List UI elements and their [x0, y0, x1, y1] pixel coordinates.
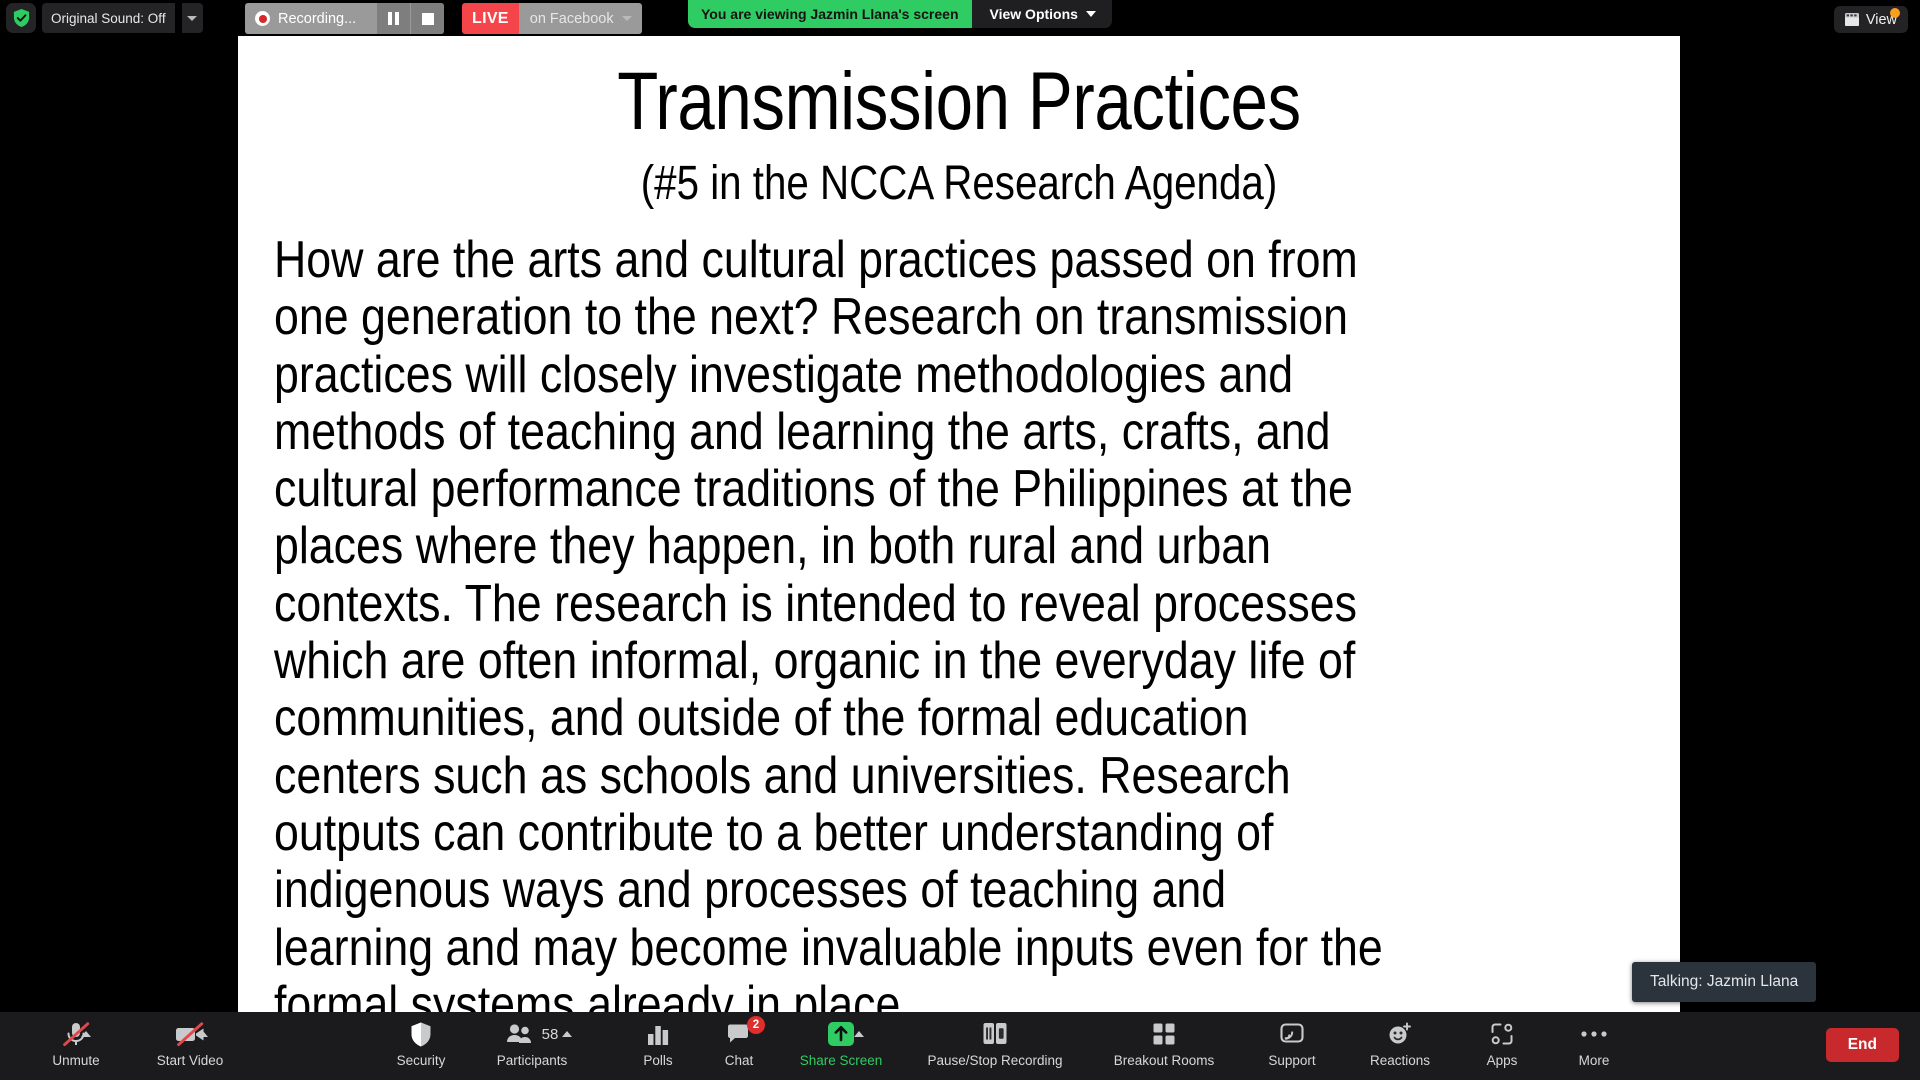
toolbar-button-support[interactable]: Support: [1240, 1012, 1344, 1080]
share-screen-icon: [824, 1021, 858, 1047]
shared-screen-content: Transmission Practices (#5 in the NCCA R…: [238, 36, 1680, 1012]
breakout-rooms-icon: [1152, 1022, 1176, 1046]
apps-icon: [1490, 1022, 1514, 1046]
bar-chart-icon: [646, 1022, 670, 1046]
view-layout-button[interactable]: View: [1834, 6, 1908, 33]
toolbar-label-apps: Apps: [1487, 1053, 1518, 1068]
chevron-down-icon: [622, 16, 632, 21]
viewing-message: You are viewing Jazmin Llana's screen: [688, 0, 972, 28]
toolbar-button-video[interactable]: Start Video: [132, 1012, 248, 1080]
people-icon: [506, 1023, 536, 1045]
toolbar-label-recording: Pause/Stop Recording: [927, 1053, 1062, 1068]
toolbar-button-audio[interactable]: Unmute: [20, 1012, 132, 1080]
grid-view-icon: [1845, 13, 1859, 26]
original-sound-dropdown[interactable]: [182, 3, 203, 33]
pause-icon: [388, 12, 399, 25]
toolbar-label-polls: Polls: [643, 1053, 672, 1068]
record-dot-icon: [245, 11, 278, 26]
toolbar-label-participants: Participants: [497, 1053, 568, 1068]
toolbar-label-audio: Unmute: [52, 1053, 99, 1068]
audio-options-chevron-icon[interactable]: [81, 1031, 91, 1037]
toolbar-label-security: Security: [397, 1053, 446, 1068]
toolbar-button-apps[interactable]: Apps: [1456, 1012, 1548, 1080]
video-options-chevron-icon[interactable]: [198, 1031, 208, 1037]
participants-count: 58: [542, 1026, 559, 1043]
toolbar-label-support: Support: [1268, 1053, 1315, 1068]
toolbar-label-video: Start Video: [157, 1053, 224, 1068]
toolbar-label-reactions: Reactions: [1370, 1053, 1430, 1068]
slide-body-text: How are the arts and cultural practices …: [274, 232, 1383, 1012]
live-destination-button[interactable]: on Facebook: [519, 3, 642, 34]
more-ellipsis-icon: [1580, 1029, 1608, 1039]
live-badge: LIVE: [462, 3, 519, 34]
toolbar-button-polls[interactable]: Polls: [618, 1012, 698, 1080]
recording-status-label: Recording...: [278, 11, 376, 27]
live-stream-status: LIVE on Facebook: [462, 3, 642, 34]
shield-icon: [409, 1021, 433, 1048]
toolbar-button-reactions[interactable]: Reactions: [1344, 1012, 1456, 1080]
toolbar-label-chat: Chat: [725, 1053, 754, 1068]
view-options-label: View Options: [990, 6, 1078, 22]
toolbar-label-share-screen: Share Screen: [800, 1053, 883, 1068]
toolbar-button-participants[interactable]: 58 Participants: [472, 1012, 592, 1080]
original-sound-button[interactable]: Original Sound: Off: [42, 3, 175, 33]
original-sound-label: Original Sound: Off: [51, 11, 166, 26]
chat-unread-badge: 2: [747, 1016, 765, 1034]
stop-icon: [422, 13, 434, 25]
toolbar-button-breakout-rooms[interactable]: Breakout Rooms: [1088, 1012, 1240, 1080]
slide-title: Transmission Practices: [368, 58, 1550, 146]
zoom-meeting-window: Transmission Practices (#5 in the NCCA R…: [0, 0, 1920, 1080]
toolbar-label-breakout-rooms: Breakout Rooms: [1114, 1053, 1215, 1068]
toolbar-button-security[interactable]: Security: [370, 1012, 472, 1080]
toolbar-button-recording[interactable]: Pause/Stop Recording: [902, 1012, 1088, 1080]
top-left-controls: Original Sound: Off: [0, 0, 238, 36]
view-options-button[interactable]: View Options: [972, 0, 1112, 28]
support-icon: [1278, 1022, 1306, 1046]
pause-stop-icon: [983, 1021, 1007, 1047]
live-destination-label: on Facebook: [530, 11, 614, 27]
chevron-down-icon: [187, 16, 197, 21]
chevron-down-icon: [1086, 11, 1096, 17]
toolbar-button-more[interactable]: More: [1548, 1012, 1640, 1080]
reactions-icon: [1387, 1022, 1413, 1046]
viewing-screen-banner: You are viewing Jazmin Llana's screen Vi…: [688, 0, 1112, 28]
pause-recording-button[interactable]: [376, 3, 410, 34]
meeting-toolbar: Unmute Start Video Secur: [0, 1012, 1920, 1080]
active-speaker-tooltip: Talking: Jazmin Llana: [1632, 962, 1816, 1002]
stop-recording-button[interactable]: [410, 3, 444, 34]
toolbar-button-chat[interactable]: 2 Chat: [698, 1012, 780, 1080]
end-meeting-button[interactable]: End: [1826, 1028, 1899, 1062]
active-speaker-label: Talking: Jazmin Llana: [1650, 973, 1798, 991]
toolbar-label-more: More: [1579, 1053, 1610, 1068]
participants-options-chevron-icon[interactable]: [562, 1031, 572, 1037]
slide-subtitle: (#5 in the NCCA Research Agenda): [353, 156, 1564, 212]
end-meeting-label: End: [1848, 1036, 1877, 1053]
toolbar-button-share-screen[interactable]: Share Screen: [780, 1012, 902, 1080]
presentation-slide: Transmission Practices (#5 in the NCCA R…: [238, 36, 1680, 1012]
view-indicator-dot: [1890, 8, 1900, 18]
encryption-shield-button[interactable]: [6, 3, 36, 33]
recording-status-bar: Recording...: [245, 3, 444, 34]
shield-check-icon: [12, 8, 31, 28]
share-options-chevron-icon[interactable]: [854, 1031, 864, 1037]
